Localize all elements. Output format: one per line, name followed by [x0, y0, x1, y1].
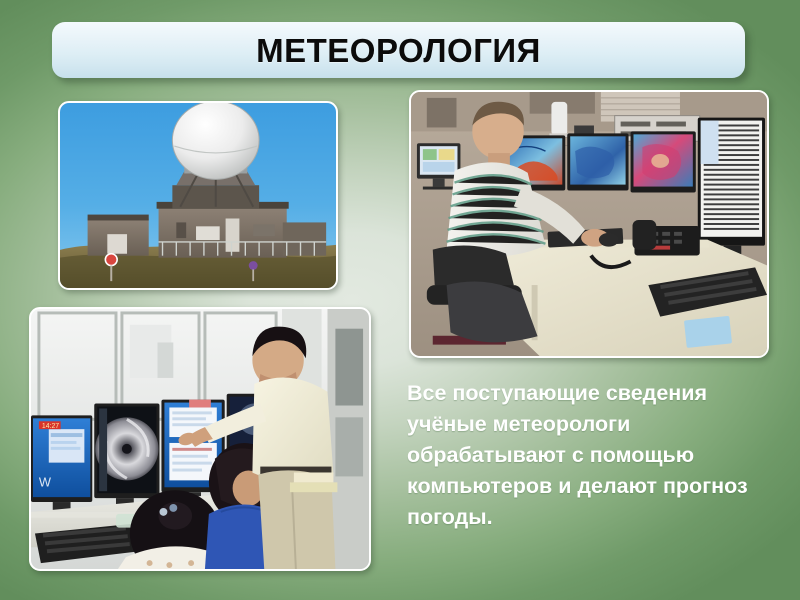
page-title: МЕТЕОРОЛОГИЯ: [256, 34, 541, 67]
slide-body-text: Все поступающие сведения учёные метеорол…: [407, 378, 779, 533]
svg-text:W: W: [39, 474, 52, 489]
photo-meteorologist-workstation: [409, 90, 769, 358]
meteorologist-workstation-illustration: [411, 92, 767, 356]
photo-forecast-team-typhoon: 14:27 W: [29, 307, 371, 571]
photo-weather-radar-dome: [58, 101, 338, 290]
svg-text:14:27: 14:27: [42, 423, 59, 430]
presentation-slide: МЕТЕОРОЛОГИЯ: [0, 0, 800, 600]
weather-radar-dome-illustration: [60, 103, 336, 288]
slide-title-box: МЕТЕОРОЛОГИЯ: [52, 22, 745, 78]
forecast-team-typhoon-illustration: 14:27 W: [31, 309, 369, 569]
